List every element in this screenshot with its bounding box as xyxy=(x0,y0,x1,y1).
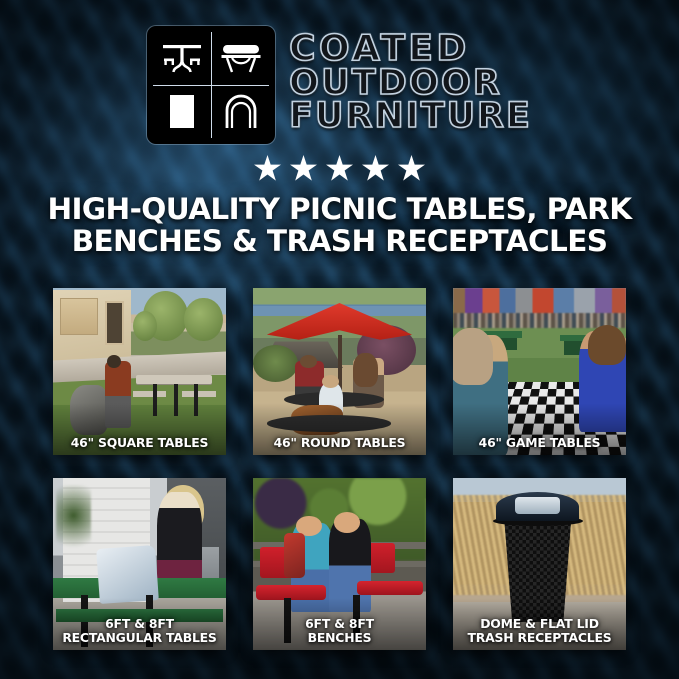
star-icon xyxy=(326,155,353,182)
star-icon xyxy=(362,155,389,182)
caption-line-1: 46" ROUND TABLES xyxy=(253,436,426,449)
category-card-round-tables[interactable]: 46" ROUND TABLES xyxy=(253,288,426,455)
caption-line-2: BENCHES xyxy=(253,631,426,644)
picnic-table-icon xyxy=(153,32,211,85)
star-rating xyxy=(254,155,425,182)
category-card-rectangular-tables[interactable]: 6FT & 8FT RECTANGULAR TABLES xyxy=(53,478,226,650)
bike-rack-icon xyxy=(211,85,269,138)
poster-header: COATED OUTDOOR FURNITURE HIGH-QUALITY PI… xyxy=(0,0,679,257)
category-card-square-tables[interactable]: 46" SQUARE TABLES xyxy=(53,288,226,455)
product-category-poster: COATED OUTDOOR FURNITURE HIGH-QUALITY PI… xyxy=(0,0,679,679)
card-caption: 46" ROUND TABLES xyxy=(253,436,426,449)
brand-logo: COATED OUTDOOR FURNITURE xyxy=(147,26,532,144)
brand-logo-mark xyxy=(147,26,275,144)
brand-word-coated: COATED xyxy=(289,32,532,67)
card-caption: 46" SQUARE TABLES xyxy=(53,436,226,449)
card-caption: DOME & FLAT LID TRASH RECEPTACLES xyxy=(453,617,626,644)
caption-line-2: TRASH RECEPTACLES xyxy=(453,631,626,644)
headline-line-1: HIGH-QUALITY PICNIC TABLES, PARK xyxy=(47,192,631,226)
brand-wordmark: COATED OUTDOOR FURNITURE xyxy=(289,32,532,138)
star-icon xyxy=(290,155,317,182)
park-bench-icon xyxy=(211,32,269,85)
brand-word-outdoor: OUTDOOR xyxy=(289,67,532,101)
caption-line-1: 46" SQUARE TABLES xyxy=(53,436,226,449)
caption-line-1: DOME & FLAT LID xyxy=(453,617,626,630)
headline-line-2: BENCHES & TRASH RECEPTACLES xyxy=(20,226,660,258)
product-category-grid: 46" SQUARE TABLES xyxy=(53,288,626,650)
caption-line-1: 6FT & 8FT xyxy=(53,617,226,630)
card-caption: 6FT & 8FT RECTANGULAR TABLES xyxy=(53,617,226,644)
star-icon xyxy=(398,155,425,182)
caption-line-1: 46" GAME TABLES xyxy=(453,436,626,449)
card-caption: 6FT & 8FT BENCHES xyxy=(253,617,426,644)
category-card-benches[interactable]: 6FT & 8FT BENCHES xyxy=(253,478,426,650)
category-card-game-tables[interactable]: 46" GAME TABLES xyxy=(453,288,626,455)
star-icon xyxy=(254,155,281,182)
trash-receptacle-icon xyxy=(153,85,211,138)
page-title: HIGH-QUALITY PICNIC TABLES, PARK BENCHES… xyxy=(20,194,660,257)
brand-word-furniture: FURNITURE xyxy=(289,100,532,134)
caption-line-2: RECTANGULAR TABLES xyxy=(53,631,226,644)
card-caption: 46" GAME TABLES xyxy=(453,436,626,449)
category-card-trash-receptacles[interactable]: DOME & FLAT LID TRASH RECEPTACLES xyxy=(453,478,626,650)
caption-line-1: 6FT & 8FT xyxy=(253,617,426,630)
